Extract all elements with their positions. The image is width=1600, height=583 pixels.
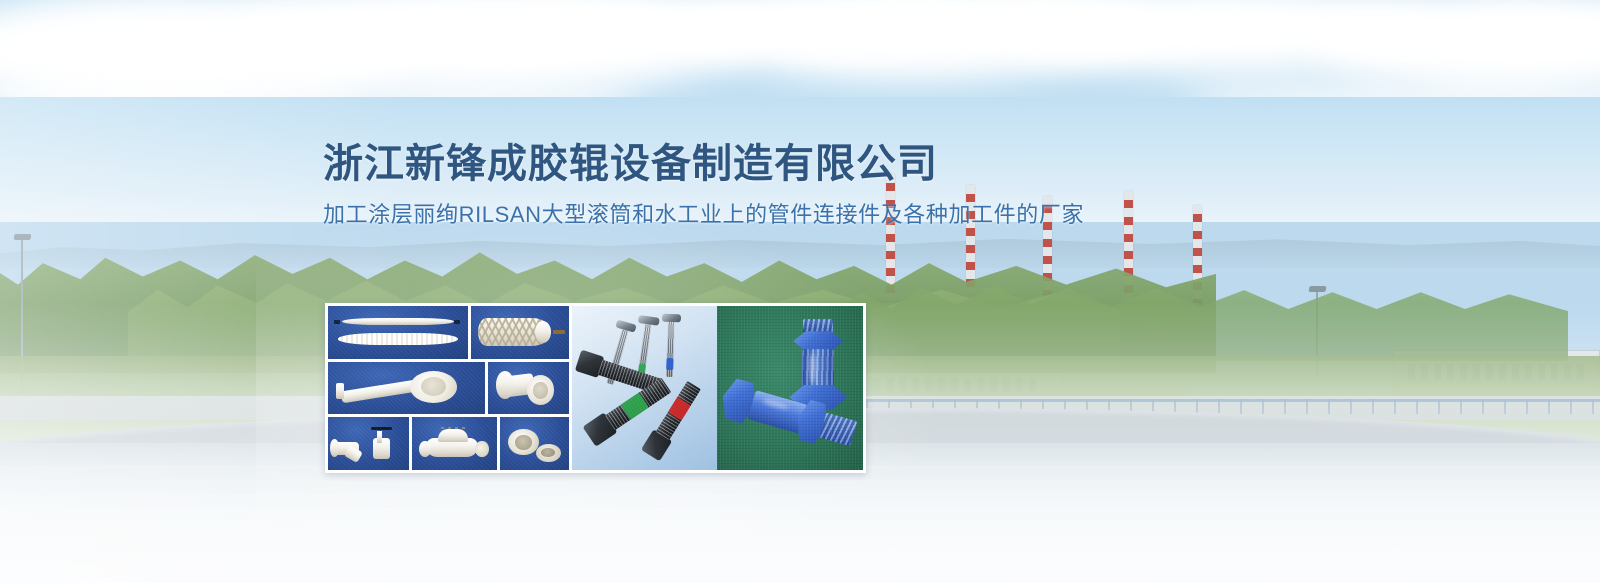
collage-panel-blue-bolts[interactable] xyxy=(717,303,866,473)
collage-row-1 xyxy=(328,306,569,359)
blue-bolt-lying xyxy=(717,370,861,461)
collage-row-3 xyxy=(328,417,569,470)
cloud-layer xyxy=(0,0,1600,97)
collage-panel-white-parts[interactable] xyxy=(325,303,572,473)
banner-subheadline: 加工涂层丽绚RILSAN大型滚筒和水工业上的管件连接件及各种加工件的厂家 xyxy=(323,197,1084,229)
collage-cell-rollers[interactable] xyxy=(328,306,468,359)
collage-cell-short-flange[interactable] xyxy=(488,362,569,415)
hero-banner: 浙江新锋成胶辊设备制造有限公司 加工涂层丽绚RILSAN大型滚筒和水工业上的管件… xyxy=(0,0,1600,583)
blue-bolt-standing xyxy=(787,319,851,413)
collage-panel-steel-bolts[interactable] xyxy=(572,303,718,473)
collage-cell-perforated-drum[interactable] xyxy=(471,306,569,359)
collage-row-2 xyxy=(328,362,569,415)
water-ripples xyxy=(0,455,1600,583)
bolt-slim-3 xyxy=(664,314,676,378)
banner-headline: 浙江新锋成胶辊设备制造有限公司 xyxy=(323,131,938,189)
product-photo-collage[interactable] xyxy=(325,303,866,473)
collage-cell-y-strainer-gate-valve[interactable] xyxy=(328,417,409,470)
collage-cell-check-valve[interactable] xyxy=(412,417,497,470)
collage-cell-flanged-pipe[interactable] xyxy=(328,362,485,415)
collage-cell-valve-discs[interactable] xyxy=(500,417,569,470)
